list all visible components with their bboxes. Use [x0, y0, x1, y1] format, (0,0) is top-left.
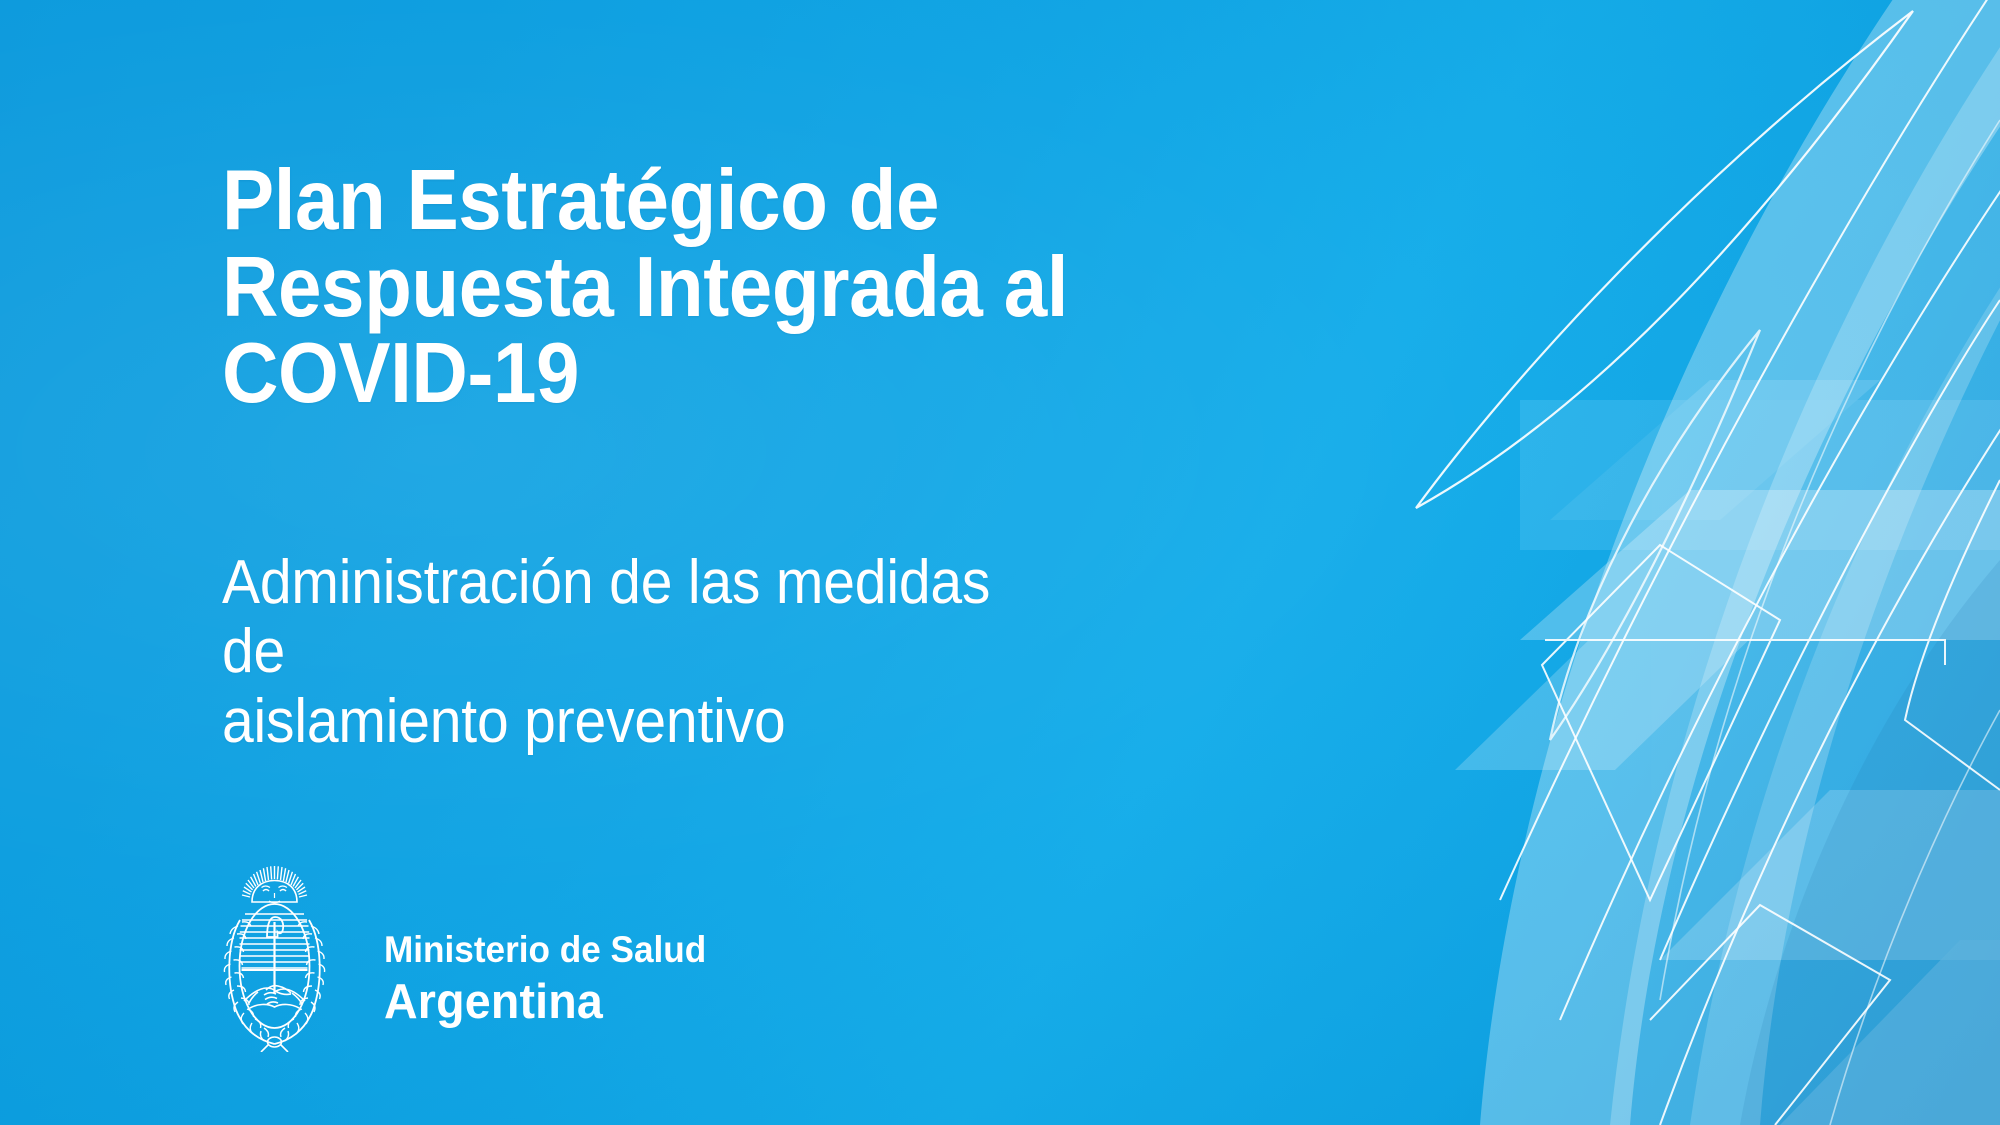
ministry-label: Ministerio de Salud: [384, 928, 706, 972]
page-subtitle: Administración de las medidas deaislamie…: [222, 548, 1050, 756]
page-title: Plan Estratégico deRespuesta Integrada a…: [222, 158, 1105, 418]
argentina-coat-of-arms-icon: [222, 862, 327, 1052]
ministry-logo-text: Ministerio de Salud Argentina: [384, 882, 723, 1031]
presentation-slide: Plan Estratégico deRespuesta Integrada a…: [0, 0, 2000, 1125]
ministry-logo-lockup: Ministerio de Salud Argentina: [222, 862, 723, 1052]
country-label: Argentina: [384, 974, 706, 1032]
